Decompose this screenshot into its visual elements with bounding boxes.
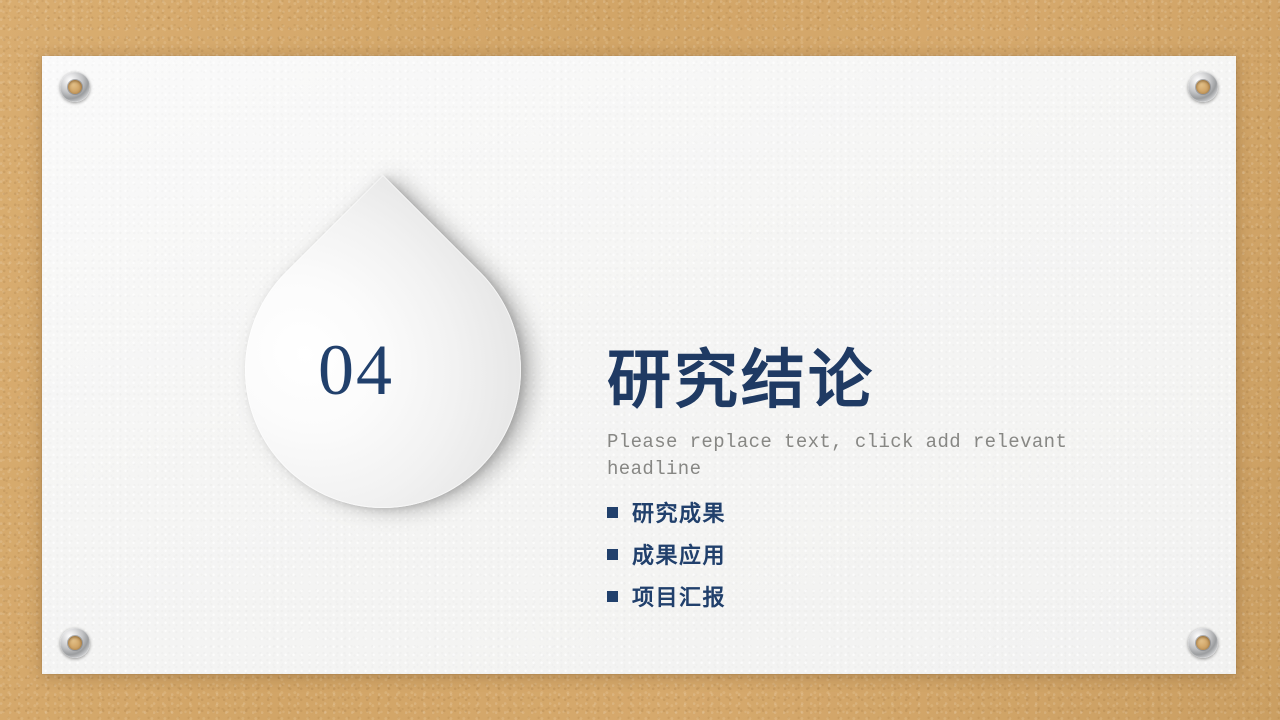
square-bullet-icon: [607, 591, 618, 602]
list-item: 研究成果: [607, 491, 1167, 533]
square-bullet-icon: [607, 549, 618, 560]
section-number-badge: 04: [245, 232, 521, 508]
grommet-top-left-icon: [60, 72, 90, 102]
presentation-slide: 04 研究结论 Please replace text, click add r…: [0, 0, 1280, 720]
list-item: 成果应用: [607, 533, 1167, 575]
list-item: 项目汇报: [607, 575, 1167, 617]
paper-sheet: 04 研究结论 Please replace text, click add r…: [42, 56, 1236, 674]
section-number-text: 04: [245, 232, 467, 508]
grommet-bottom-right-icon: [1188, 628, 1218, 658]
grommet-top-right-icon: [1188, 72, 1218, 102]
grommet-bottom-left-icon: [60, 628, 90, 658]
bullet-list: 研究成果 成果应用 项目汇报: [607, 491, 1167, 617]
slide-text-column: 研究结论 Please replace text, click add rele…: [607, 346, 1167, 617]
list-item-label: 项目汇报: [632, 580, 726, 612]
slide-title: 研究结论: [607, 346, 1167, 415]
square-bullet-icon: [607, 507, 618, 518]
slide-subtitle: Please replace text, click add relevant …: [607, 429, 1097, 483]
list-item-label: 成果应用: [632, 538, 726, 570]
list-item-label: 研究成果: [632, 496, 726, 528]
